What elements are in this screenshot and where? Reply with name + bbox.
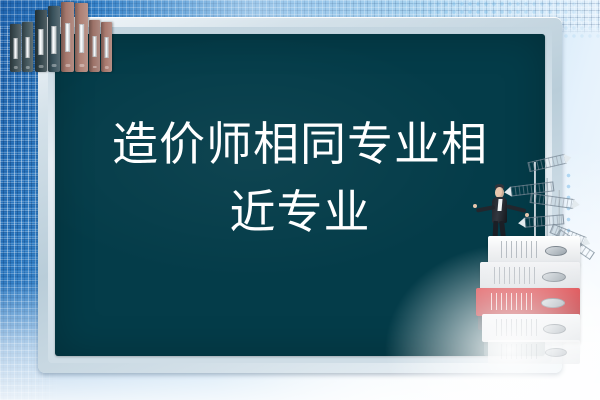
binder-ring (25, 66, 29, 69)
binder-ring (39, 65, 44, 68)
binder-6 (75, 3, 88, 72)
binder-spine-lines (496, 319, 539, 336)
binder-spine-lines (494, 267, 538, 284)
binder-ring (13, 66, 17, 68)
binder-7 (89, 20, 100, 72)
binder-label-ring (545, 348, 567, 357)
binder-spine-lines (491, 293, 537, 310)
binder-spine-lines (501, 344, 541, 359)
binder-5 (61, 2, 74, 72)
binder-label (92, 36, 97, 58)
binder-label (51, 26, 56, 54)
binder-4 (48, 6, 60, 72)
binder-ring (65, 64, 70, 68)
binder-row (10, 0, 110, 72)
stack-binder-top (488, 236, 580, 264)
stack-binder-second (480, 262, 580, 290)
binder-label (13, 38, 18, 58)
binder-ring (79, 64, 84, 67)
binder-label-ring (541, 298, 566, 308)
binder-label-ring (545, 246, 567, 256)
binder-ring (52, 64, 57, 67)
stack-binder-shadowed (488, 340, 580, 364)
binder-spine-lines (501, 241, 541, 258)
binder-1 (10, 24, 21, 72)
slide-canvas: 造价师相同专业相 近专业 (0, 0, 600, 400)
binder-8 (101, 22, 112, 72)
binder-label (25, 37, 30, 58)
stack-binder-bottom (482, 314, 580, 342)
binder-label-ring (543, 324, 567, 334)
binder-label-ring (542, 272, 566, 282)
binder-ring (104, 66, 108, 69)
binder-3 (35, 10, 47, 72)
binder-label (104, 37, 109, 58)
binder-label (79, 24, 85, 53)
stack-binder-red (476, 288, 580, 316)
binder-label (65, 23, 71, 52)
book-stack-illustration (462, 168, 600, 400)
binder-2 (22, 22, 33, 72)
binder-ring (92, 66, 96, 69)
binder-label (38, 29, 43, 55)
